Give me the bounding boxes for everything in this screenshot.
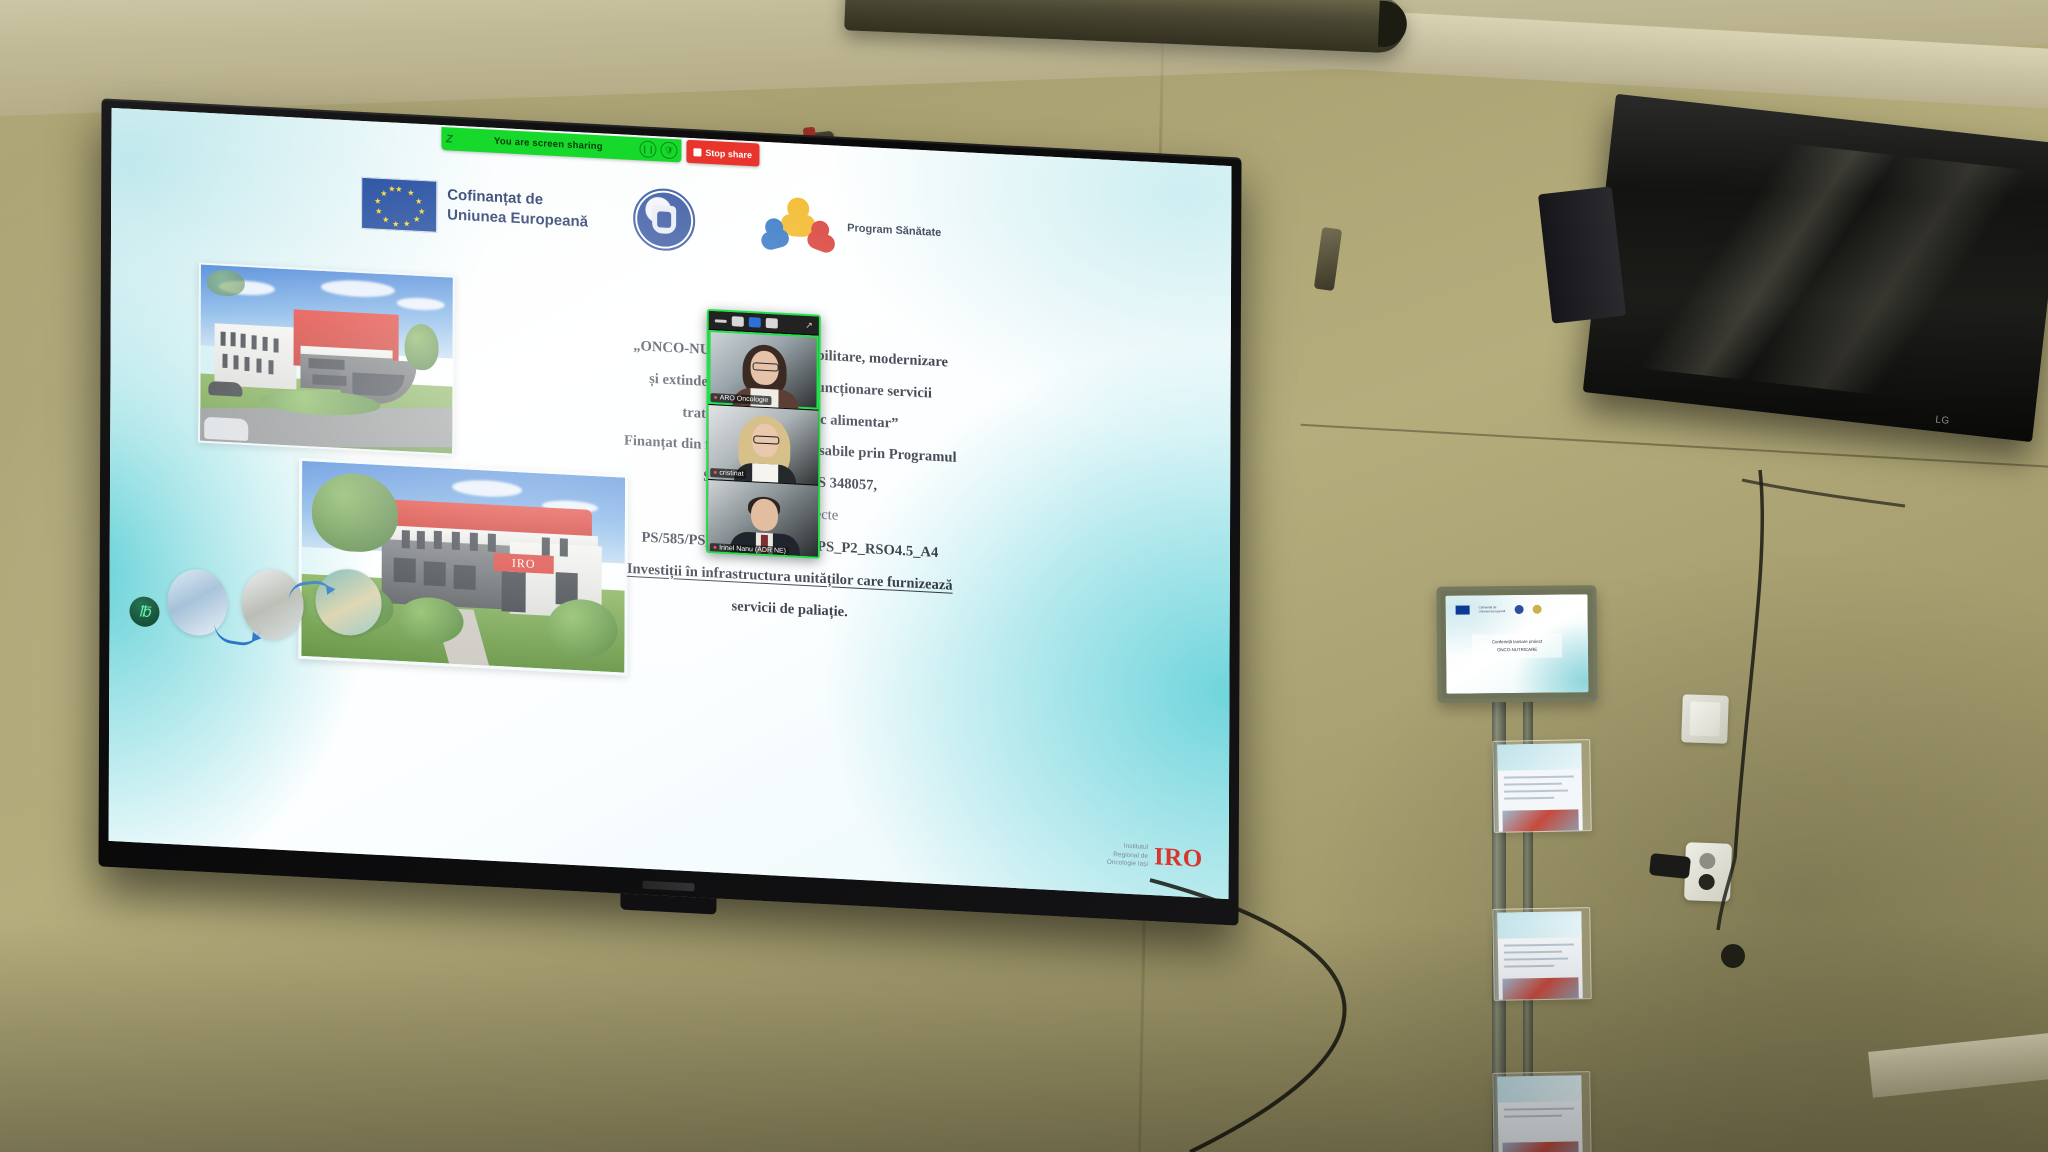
socket-hole — [1699, 853, 1716, 870]
stop-icon — [693, 148, 701, 156]
lower-wall-shadow — [0, 922, 2048, 1152]
video-call-panel[interactable]: ↗ ● ARO Oncologie — [706, 309, 821, 559]
poster-logo-row: Cofinanțat de Uniunea Europeană — [1456, 605, 1542, 615]
screen-sharing-banner: Z You are screen sharing ❙❙ 🛡 — [441, 127, 681, 162]
presentation-slide: ★★ ★★ ★★ ★★ ★★ ★★ Cofinanțat de Uniunea … — [109, 108, 1232, 899]
poster-caption: Conferință lansare proiect ONCO-NUTRICAR… — [1472, 634, 1562, 659]
leaf-icon: ℔ — [129, 596, 159, 628]
minimize-icon[interactable] — [715, 319, 727, 323]
power-socket[interactable] — [1684, 842, 1732, 902]
eu-funding-label: Cofinanțat de Uniunea Europeană — [447, 185, 588, 232]
speaker-view-icon[interactable] — [732, 316, 744, 327]
poster-caption-line-2: ONCO-NUTRICARE — [1474, 646, 1560, 655]
secondary-tv-screen: LG — [1583, 94, 2048, 443]
muted-mic-icon: ● — [713, 469, 717, 476]
program-sanatate-logo-icon — [1532, 605, 1541, 614]
conference-room-scene: ★★ ★★ ★★ ★★ ★★ ★★ Cofinanțat de Uniunea … — [0, 0, 2048, 1152]
power-plug — [1649, 853, 1691, 879]
eu-flag-icon — [1456, 605, 1470, 614]
process-graphic: ℔ — [129, 554, 389, 658]
poster-content: Cofinanțat de Uniunea Europeană Conferin… — [1445, 594, 1588, 693]
expand-icon[interactable]: ↗ — [805, 319, 813, 330]
shield-icon[interactable]: 🛡 — [660, 141, 677, 159]
building-render-top-image — [198, 262, 455, 455]
poster-frame: Cofinanțat de Uniunea Europeană Conferin… — [1436, 585, 1597, 703]
stop-share-label: Stop share — [705, 147, 752, 159]
screen-sharing-status: You are screen sharing — [457, 134, 639, 154]
iro-wordmark: IRO — [1154, 843, 1203, 874]
participant-name-badge: ● cristinat — [710, 468, 746, 479]
participant-name: cristinat — [719, 470, 743, 478]
participant-name: Irinel Nanu (ADR NE) — [719, 545, 786, 555]
grid-view-icon[interactable] — [766, 318, 778, 329]
lg-logo: LG — [1935, 414, 1950, 427]
poster-eu-label: Cofinanțat de Uniunea Europeană — [1479, 606, 1506, 614]
participant-name-badge: ● ARO Oncologie — [710, 393, 771, 405]
eu-stars: ★★ ★★ ★★ ★★ ★★ ★★ — [362, 178, 436, 232]
stop-share-button[interactable]: Stop share — [686, 140, 759, 167]
program-sanatate-label: Program Sănătate — [847, 222, 941, 239]
food-tray-photo — [315, 568, 381, 637]
slide-logo-row: ★★ ★★ ★★ ★★ ★★ ★★ Cofinanțat de Uniunea … — [361, 173, 1061, 275]
secondary-tv-glare — [1613, 127, 2048, 412]
participant-tile[interactable]: ● ARO Oncologie — [708, 330, 818, 411]
muted-mic-icon: ● — [713, 544, 717, 551]
tv-bezel: ★★ ★★ ★★ ★★ ★★ ★★ Cofinanțat de Uniunea … — [98, 98, 1241, 925]
zoom-icon: Z — [441, 127, 457, 151]
program-sanatate-logo-icon: Program Sănătate — [761, 196, 991, 264]
light-switch[interactable] — [1681, 694, 1729, 744]
brochure-pocket[interactable] — [1492, 739, 1592, 833]
iro-footer-subtext: Institutul Regional de Oncologie Iași — [1107, 842, 1148, 870]
gallery-view-icon[interactable] — [749, 317, 761, 328]
pause-icon[interactable]: ❙❙ — [639, 140, 656, 158]
brochure-flyer — [1497, 743, 1583, 833]
romanian-seal-icon — [1514, 605, 1523, 614]
socket-plug — [1698, 874, 1715, 891]
main-display[interactable]: ★★ ★★ ★★ ★★ ★★ ★★ Cofinanțat de Uniunea … — [98, 98, 1241, 925]
iro-footer-logo: Institutul Regional de Oncologie Iași IR… — [1107, 841, 1203, 874]
eu-flag-icon: ★★ ★★ ★★ ★★ ★★ ★★ — [361, 177, 437, 233]
tv-brand-mark — [642, 881, 694, 892]
tv-screen[interactable]: ★★ ★★ ★★ ★★ ★★ ★★ Cofinanțat de Uniunea … — [109, 108, 1232, 899]
tv-wall-mount — [1538, 186, 1626, 323]
participant-tile[interactable]: ● cristinat — [708, 405, 818, 486]
participant-name: ARO Oncologie — [720, 395, 769, 405]
romanian-seal-icon — [633, 187, 695, 252]
muted-mic-icon: ● — [713, 394, 717, 401]
participant-tile[interactable]: ● Irinel Nanu (ADR NE) — [708, 480, 818, 559]
secondary-tv[interactable]: LG — [1583, 94, 2048, 443]
